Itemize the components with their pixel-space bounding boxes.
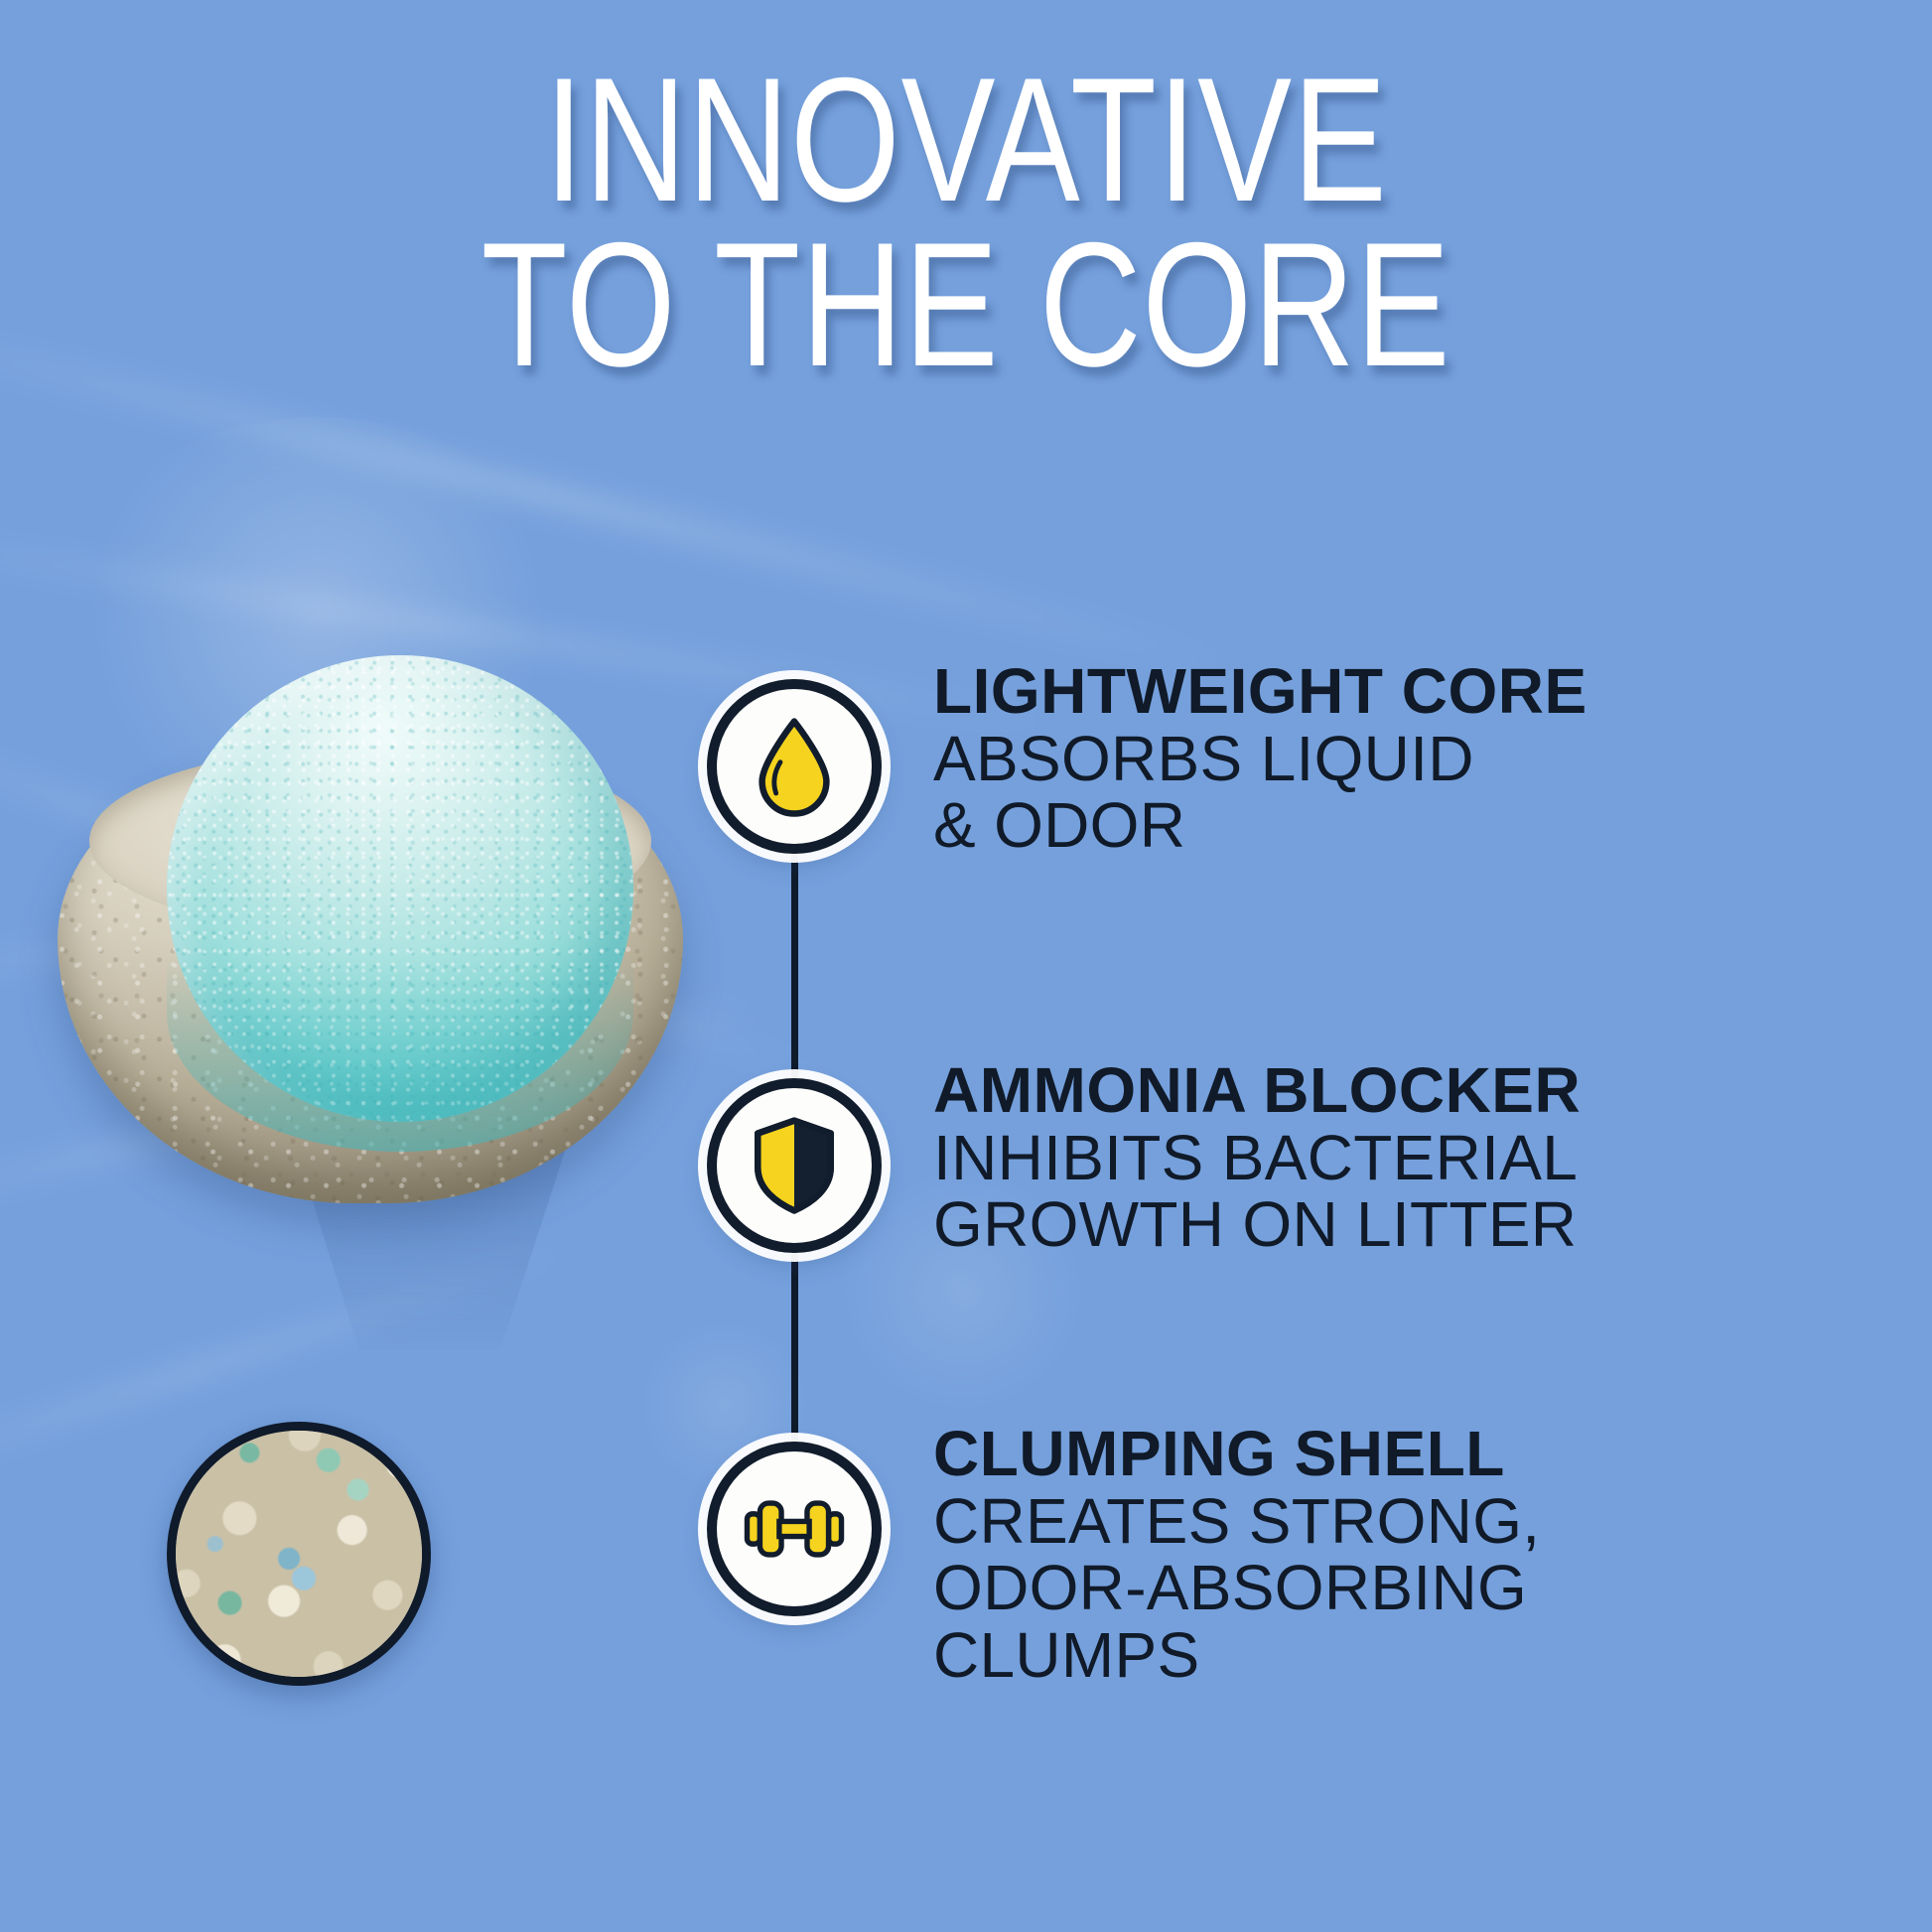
feature-block-lightweight-core: LIGHTWEIGHT CORE ABSORBS LIQUID & ODOR (933, 659, 1767, 860)
droplet-icon-badge[interactable] (707, 679, 882, 854)
dumbbell-icon-badge[interactable] (707, 1442, 882, 1616)
feature-body: ABSORBS LIQUID & ODOR (933, 726, 1767, 859)
page-title: INNOVATIVE TO THE CORE (194, 58, 1739, 386)
droplet-icon (741, 713, 848, 820)
lightweight-core (167, 655, 633, 1122)
granules-inset (167, 1422, 431, 1686)
feature-heading: CLUMPING SHELL (933, 1422, 1767, 1486)
feature-heading: AMMONIA BLOCKER (933, 1058, 1767, 1123)
feature-body: CREATES STRONG, ODOR-ABSORBING CLUMPS (933, 1488, 1767, 1689)
dumbbell-icon (741, 1475, 848, 1583)
shield-icon (741, 1112, 848, 1219)
title-line-2: TO THE CORE (194, 222, 1739, 387)
shield-icon-badge[interactable] (707, 1078, 882, 1253)
infographic-canvas: INNOVATIVE TO THE CORE (0, 0, 1932, 1932)
feature-block-clumping-shell: CLUMPING SHELL CREATES STRONG, ODOR-ABSO… (933, 1422, 1767, 1689)
feature-heading: LIGHTWEIGHT CORE (933, 659, 1767, 724)
feature-body: INHIBITS BACTERIAL GROWTH ON LITTER (933, 1125, 1767, 1258)
feature-block-ammonia-blocker: AMMONIA BLOCKER INHIBITS BACTERIAL GROWT… (933, 1058, 1767, 1259)
product-illustration (50, 655, 764, 1390)
